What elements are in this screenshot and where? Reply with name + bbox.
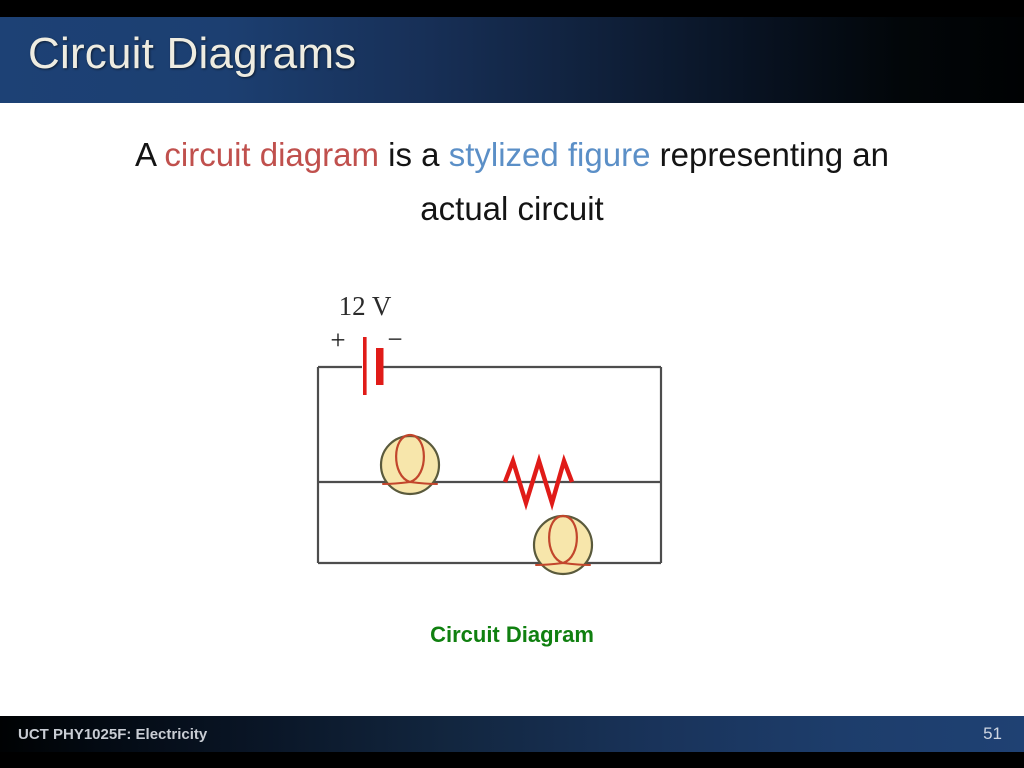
battery-minus-sign: − xyxy=(387,324,402,354)
battery-positive-plate xyxy=(363,337,367,395)
circuit-diagram-figure: 12 V + − xyxy=(280,275,700,585)
lamp-left-envelope xyxy=(381,436,439,494)
body-text-segment-2: is a xyxy=(379,136,449,173)
body-text-segment-1: A xyxy=(135,136,164,173)
lamp-bottom-symbol xyxy=(534,516,592,574)
body-text-highlight-circuit-diagram: circuit diagram xyxy=(164,136,379,173)
battery-symbol xyxy=(363,337,384,395)
figure-caption: Circuit Diagram xyxy=(0,622,1024,648)
slide: Circuit Diagrams A circuit diagram is a … xyxy=(0,0,1024,768)
battery-voltage-label: 12 V xyxy=(339,291,392,321)
footer-course-label: UCT PHY1025F: Electricity xyxy=(18,726,207,743)
body-text-segment-3: representing an xyxy=(650,136,889,173)
bottom-black-strip xyxy=(0,752,1024,768)
slide-number: 51 xyxy=(983,724,1002,744)
circuit-wires xyxy=(318,367,661,563)
battery-negative-plate xyxy=(376,348,384,385)
page-title: Circuit Diagrams xyxy=(28,26,356,82)
battery-plus-sign: + xyxy=(330,325,345,355)
body-text-line-2: actual circuit xyxy=(30,182,994,236)
lamp-left-symbol xyxy=(381,435,439,494)
top-black-strip xyxy=(0,0,1024,17)
body-text-highlight-stylized-figure: stylized figure xyxy=(449,136,651,173)
body-paragraph: A circuit diagram is a stylized figure r… xyxy=(30,128,994,236)
